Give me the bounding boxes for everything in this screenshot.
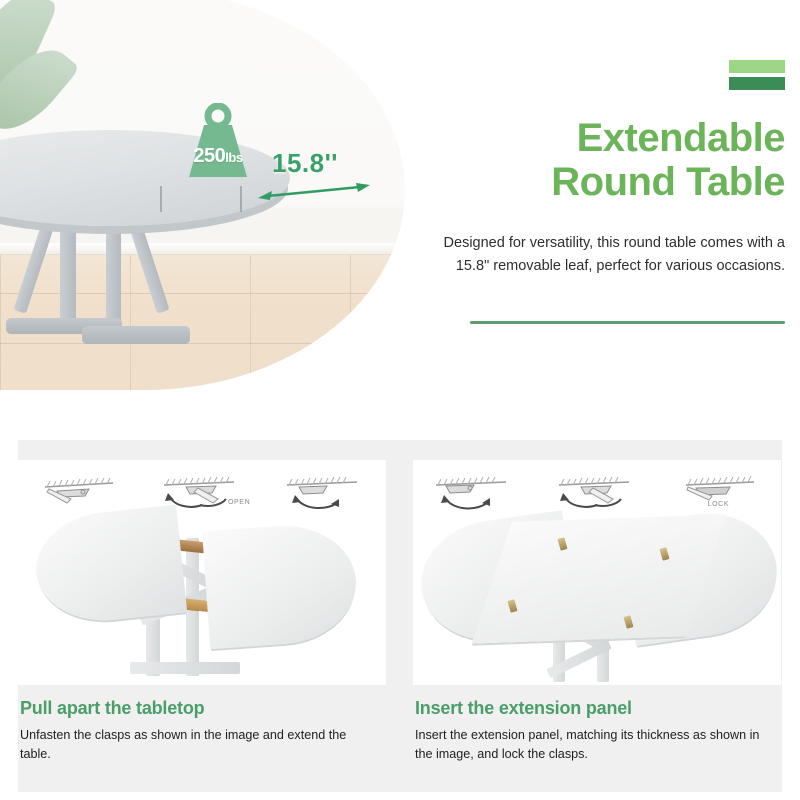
weight-value: 250	[193, 145, 225, 167]
step-panel-2: LOCK Insert the	[413, 440, 781, 792]
dimension-arrow-icon	[258, 182, 370, 204]
hero-description: Designed for versatility, this round tab…	[430, 232, 785, 279]
weight-icon	[183, 103, 253, 181]
hero-divider	[470, 321, 785, 324]
step-2-body: Insert the extension panel, matching its…	[415, 726, 775, 764]
hero-text-column: Extendable Round Table Designed for vers…	[430, 60, 785, 380]
accent-bar-light	[729, 60, 785, 73]
weight-capacity-badge: 250lbs	[183, 103, 253, 181]
table-pulled-apart-illustration	[18, 504, 386, 685]
table-with-panel-illustration	[413, 504, 781, 685]
title-line-2: Round Table	[551, 160, 785, 204]
accent-bars	[430, 60, 785, 90]
step-1-title: Pull apart the tabletop	[20, 698, 380, 719]
step-1-photo: OPEN	[18, 460, 386, 685]
step-1-caption: Pull apart the tabletop Unfasten the cla…	[20, 698, 380, 764]
dimension-label: 15.8''	[272, 148, 338, 179]
step-1-body: Unfasten the clasps as shown in the imag…	[20, 726, 380, 764]
page-title: Extendable Round Table	[430, 116, 785, 204]
hero-section: 250lbs 15.8'' Extendable Round Table Des…	[0, 0, 800, 436]
weight-capacity-label: 250lbs	[183, 145, 253, 168]
step-2-title: Insert the extension panel	[415, 698, 775, 719]
step-2-caption: Insert the extension panel Insert the ex…	[415, 698, 775, 764]
title-line-1: Extendable	[577, 116, 785, 160]
weight-unit: lbs	[225, 150, 242, 165]
step-2-photo: LOCK	[413, 460, 781, 685]
step-panel-1: OPEN	[18, 440, 386, 792]
accent-bar-dark	[729, 77, 785, 90]
steps-section: OPEN	[18, 440, 782, 792]
